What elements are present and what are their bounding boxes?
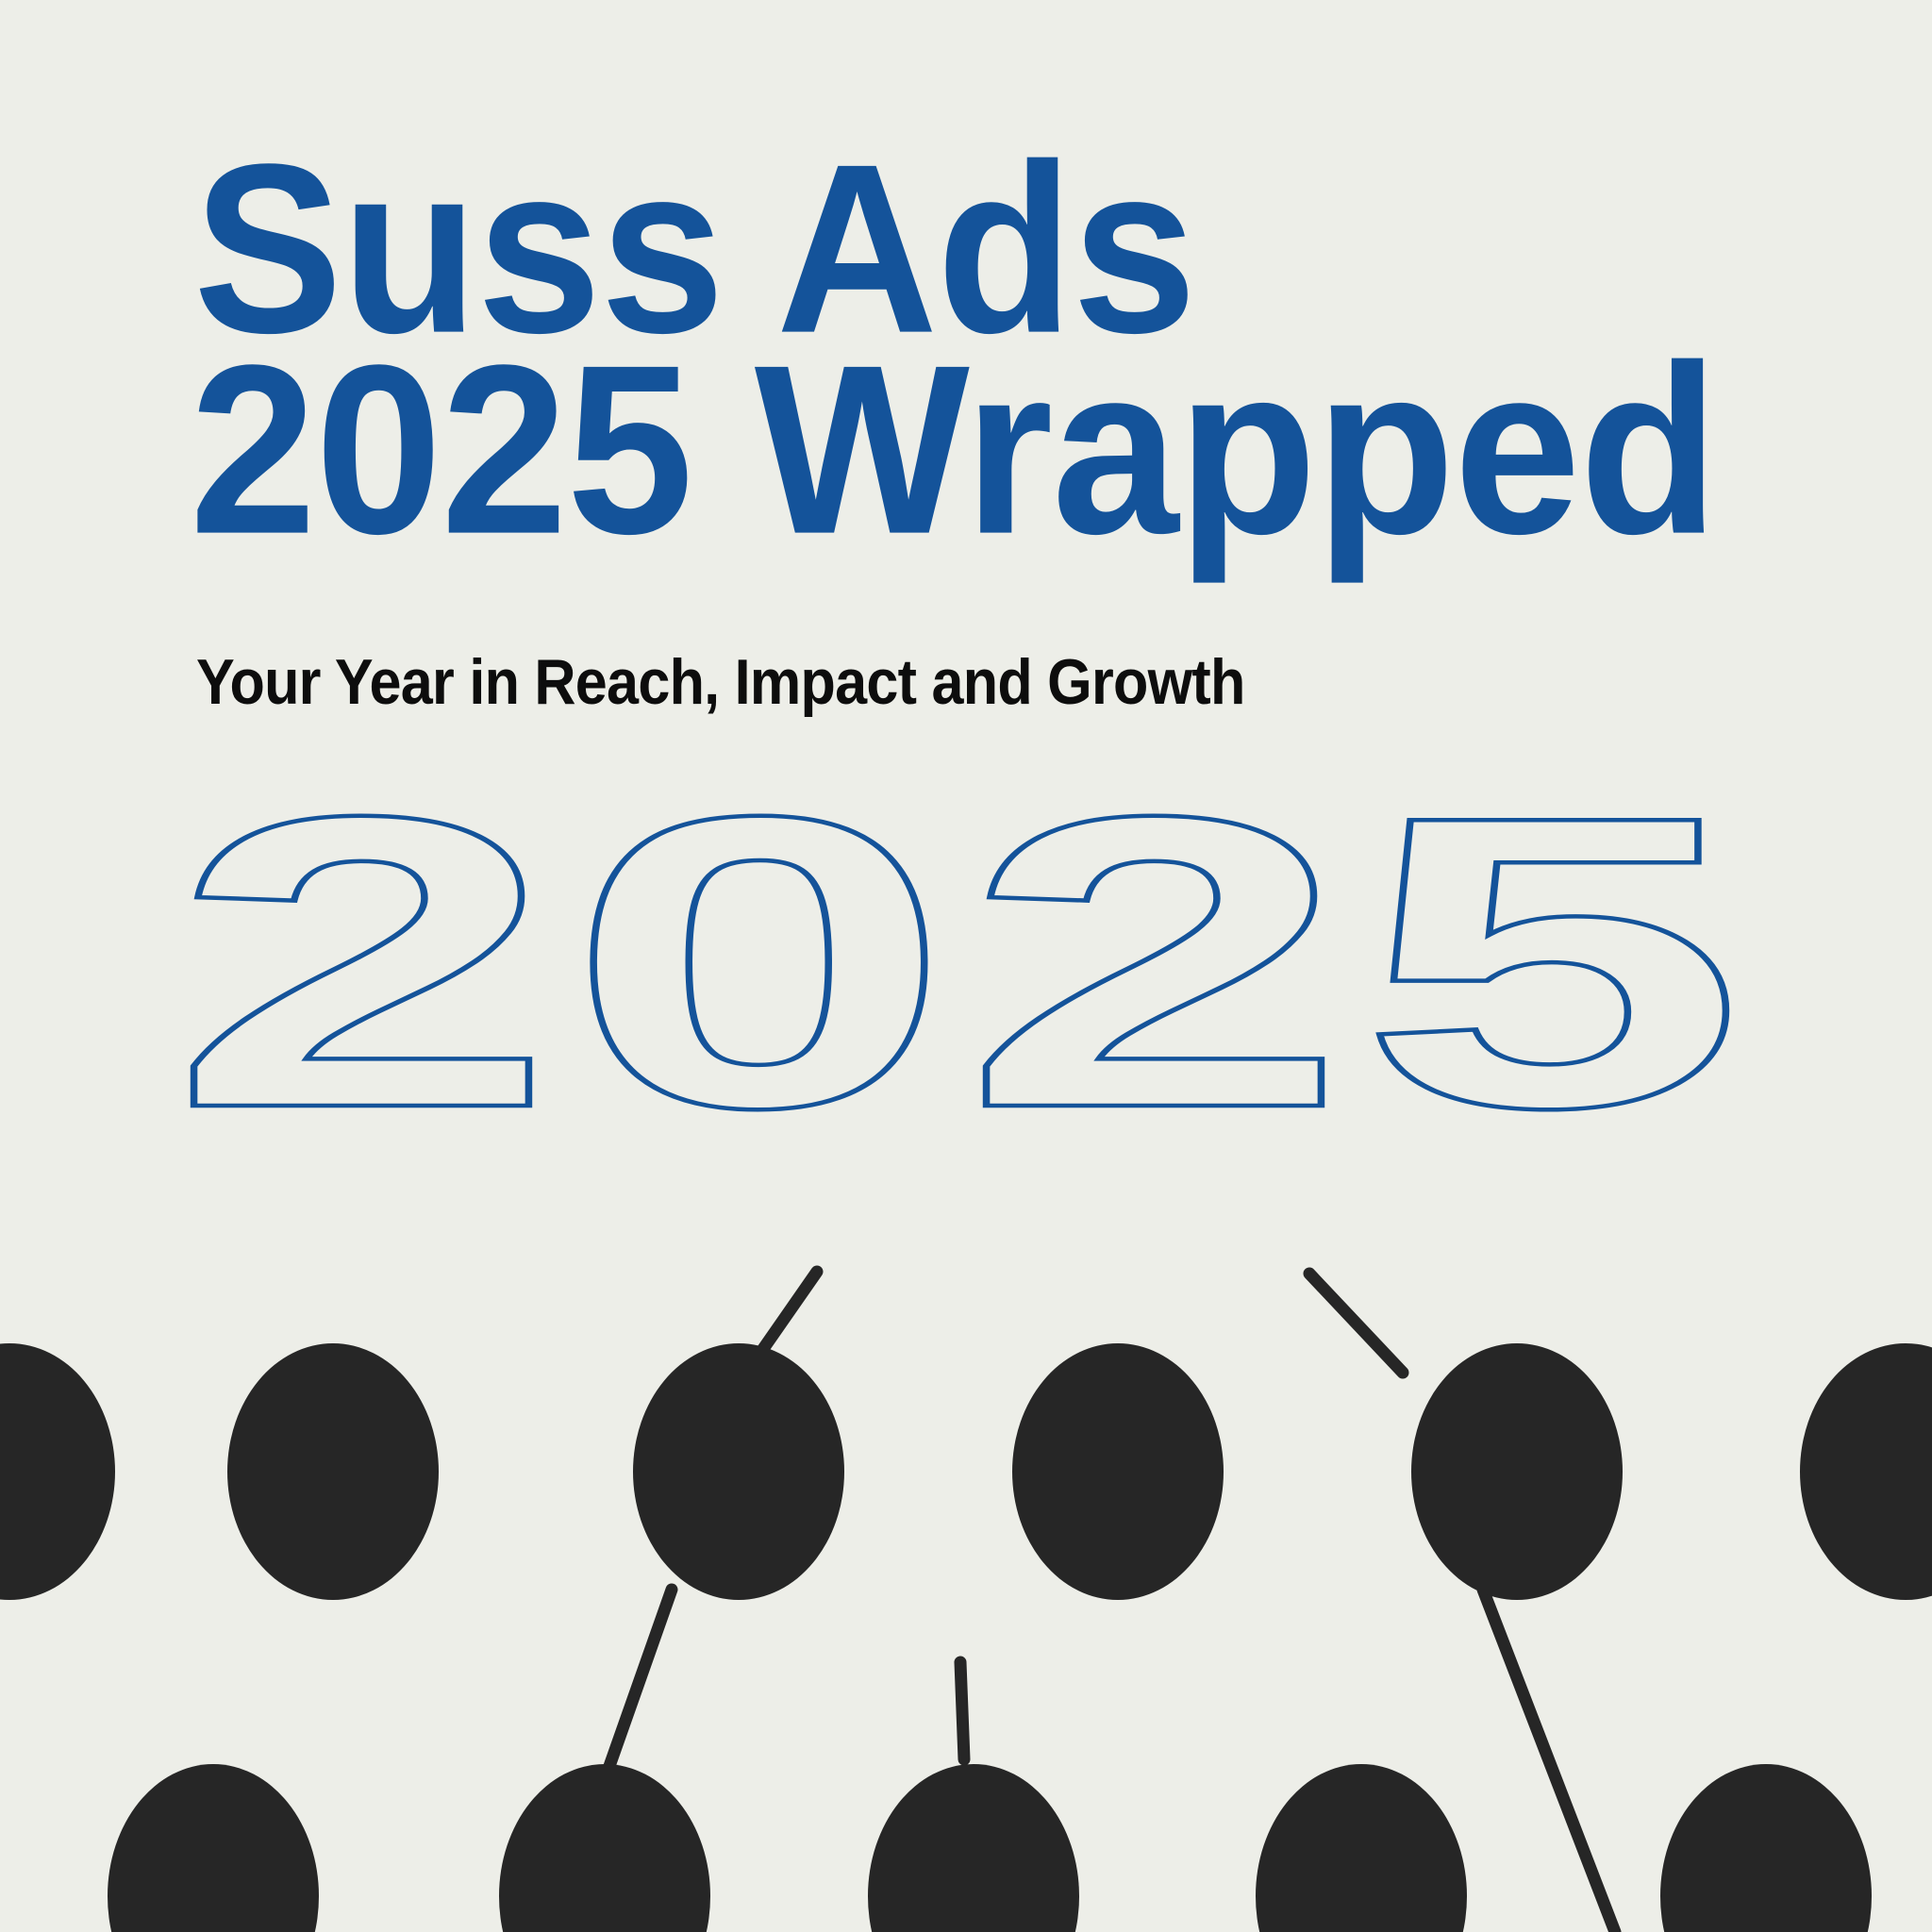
year-outline-text: 2025 [170, 731, 1755, 1194]
dots-stems-decoration [0, 1255, 1932, 1932]
dot-bottom-3 [868, 1764, 1079, 1932]
dot-bottom-4 [1256, 1764, 1467, 1932]
poster-title-line-2: 2025 Wrapped [190, 342, 1893, 559]
stem-down-left-a [608, 1590, 672, 1769]
dot-top-3 [633, 1343, 844, 1600]
stem-short-vertical-c [960, 1662, 964, 1759]
dot-row-top [0, 1343, 1932, 1600]
dot-bottom-5 [1660, 1764, 1872, 1932]
dot-bottom-2 [499, 1764, 710, 1932]
headline-block: Suss Ads 2025 Wrapped [193, 142, 1797, 536]
poster-subtitle: Your Year in Reach, Impact and Growth [196, 651, 1245, 715]
stem-down-right-b [1483, 1590, 1615, 1932]
dot-top-4 [1012, 1343, 1224, 1600]
year-outline-graphic: 2025 [170, 774, 1774, 1170]
dot-top-6 [1800, 1343, 1932, 1600]
stem-up-left-b [1309, 1274, 1403, 1373]
dot-top-5 [1411, 1343, 1623, 1600]
wrapped-poster: Suss Ads 2025 Wrapped Your Year in Reach… [0, 0, 1932, 1932]
dot-top-2 [227, 1343, 439, 1600]
dot-top-1 [0, 1343, 115, 1600]
dot-bottom-1 [108, 1764, 319, 1932]
